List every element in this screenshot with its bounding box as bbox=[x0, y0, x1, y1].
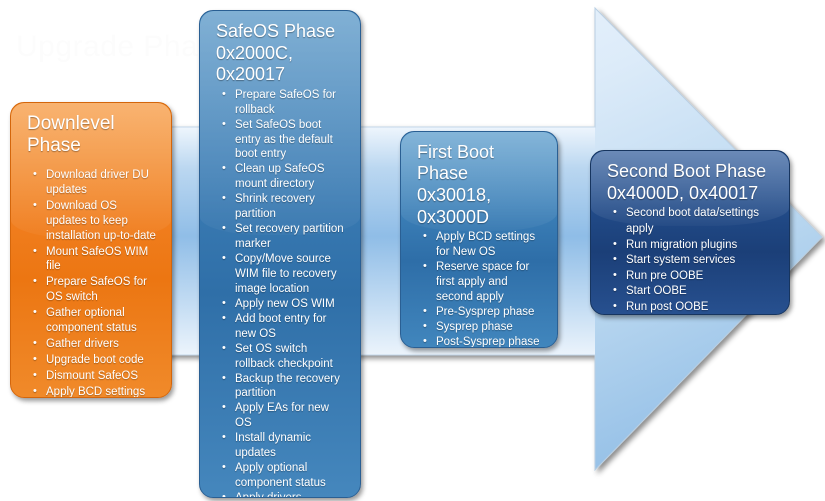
list-item: Second boot data/settings apply bbox=[613, 206, 777, 237]
list-item: Set recovery partition marker bbox=[222, 222, 348, 252]
diagram-canvas: Upgrade Phases Downlevel Phase Download … bbox=[0, 0, 825, 501]
list-item: Clean up SafeOS mount directory bbox=[222, 162, 348, 192]
phase-item-list-secondboot: Second boot data/settings apply Run migr… bbox=[603, 206, 777, 315]
list-item: Run post OOBE bbox=[613, 300, 777, 315]
list-item: Apply BCD settings for New OS bbox=[423, 230, 545, 260]
phase-box-secondboot[interactable]: Second Boot Phase 0x4000D, 0x40017 Secon… bbox=[590, 150, 790, 315]
phase-code-secondboot: 0x4000D, 0x40017 bbox=[607, 183, 777, 204]
list-item: Dismount SafeOS bbox=[33, 369, 159, 384]
list-item: Apply BCD settings for SafeOS bbox=[33, 385, 159, 398]
phase-title-secondboot: Second Boot Phase bbox=[607, 161, 777, 182]
list-item: Reserve space for first apply and second… bbox=[423, 260, 545, 305]
phase-box-safeos[interactable]: SafeOS Phase 0x2000C, 0x20017 Prepare Sa… bbox=[199, 10, 361, 498]
phase-box-downlevel[interactable]: Downlevel Phase Download driver DU updat… bbox=[10, 102, 172, 398]
list-item: Gather drivers bbox=[33, 337, 159, 352]
list-item: Run migration plugins bbox=[613, 238, 777, 254]
list-item: Download driver DU updates bbox=[33, 168, 159, 198]
list-item: Set SafeOS boot entry as the default boo… bbox=[222, 118, 348, 163]
list-item: Add boot entry for new OS bbox=[222, 312, 348, 342]
phase-title-downlevel: Downlevel Phase bbox=[27, 113, 159, 158]
list-item: Prepare SafeOS for rollback bbox=[222, 88, 348, 118]
phase-box-firstboot[interactable]: First Boot Phase 0x30018, 0x3000D Apply … bbox=[400, 131, 558, 348]
list-item: Apply EAs for new OS bbox=[222, 401, 348, 431]
list-item: Download OS updates to keep installation… bbox=[33, 199, 159, 244]
list-item: Apply optional component status bbox=[222, 461, 348, 491]
list-item: Copy/Move source WIM file to recovery im… bbox=[222, 252, 348, 297]
list-item: Start OOBE bbox=[613, 284, 777, 300]
list-item: Pre-Sysprep phase bbox=[423, 305, 545, 320]
phase-title-firstboot: First Boot Phase bbox=[417, 142, 545, 184]
list-item: Run pre OOBE bbox=[613, 269, 777, 285]
list-item: Install dynamic updates bbox=[222, 431, 348, 461]
list-item: Sysprep phase bbox=[423, 320, 545, 335]
phase-item-list-downlevel: Download driver DU updates Download OS u… bbox=[23, 168, 159, 398]
phase-item-list-safeos: Prepare SafeOS for rollback Set SafeOS b… bbox=[212, 88, 348, 498]
list-item: Apply new OS WIM bbox=[222, 297, 348, 312]
list-item: Backup the recovery partition bbox=[222, 372, 348, 402]
list-item: Post-Sysprep phase bbox=[423, 335, 545, 349]
phase-code-safeos: 0x2000C, 0x20017 bbox=[216, 43, 348, 85]
phase-item-list-firstboot: Apply BCD settings for New OS Reserve sp… bbox=[413, 230, 545, 348]
list-item: Mount SafeOS WIM file bbox=[33, 245, 159, 275]
list-item: Apply drivers bbox=[222, 491, 348, 498]
list-item: Set OS switch rollback checkpoint bbox=[222, 342, 348, 372]
list-item: Prepare SafeOS for OS switch bbox=[33, 275, 159, 305]
list-item: Shrink recovery partition bbox=[222, 192, 348, 222]
list-item: Start system services bbox=[613, 253, 777, 269]
phase-title-safeos: SafeOS Phase bbox=[216, 21, 348, 42]
list-item: Gather optional component status bbox=[33, 306, 159, 336]
phase-code-firstboot: 0x30018, 0x3000D bbox=[417, 185, 545, 227]
list-item: Upgrade boot code bbox=[33, 353, 159, 368]
